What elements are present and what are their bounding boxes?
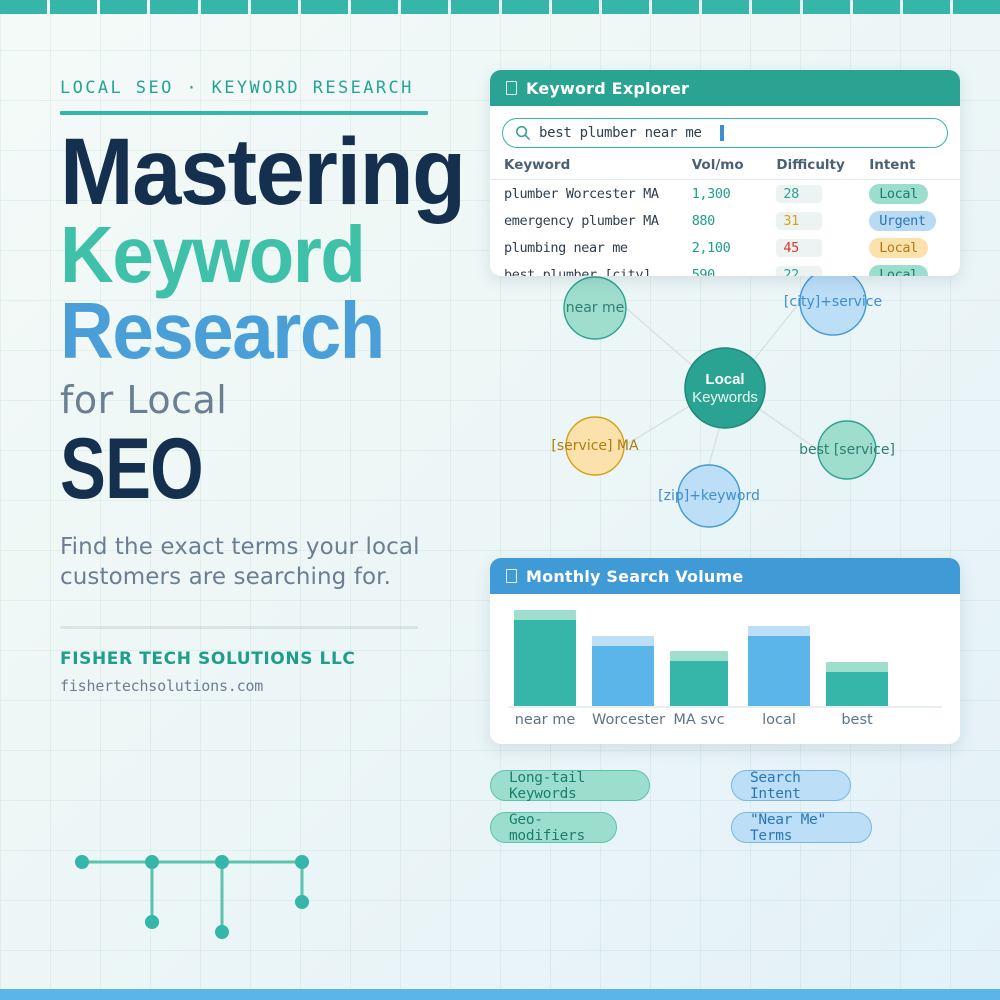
intent-badge: Local xyxy=(869,265,928,277)
network-node-center[interactable]: Local Keywords xyxy=(685,348,765,428)
keyword-explorer-card: Keyword Explorer best plumber near me Ke… xyxy=(490,70,960,276)
search-row: best plumber near me xyxy=(490,106,960,148)
title-line-keyword: Keyword xyxy=(60,218,432,292)
bar[interactable] xyxy=(592,636,654,706)
tag-pill[interactable]: Long-tail Keywords xyxy=(490,770,650,801)
cell-keyword: plumbing near me xyxy=(490,234,692,261)
column-header-keyword: Keyword xyxy=(490,157,692,180)
network-center-label-top: Local xyxy=(705,371,744,388)
network-node[interactable]: best [service] xyxy=(799,421,895,479)
network-node-label: near me xyxy=(566,300,625,316)
cell-keyword: plumber Worcester MA xyxy=(490,180,692,208)
keyword-explorer-header: Keyword Explorer xyxy=(490,70,960,106)
table-row[interactable]: best plumber [city]59022Local xyxy=(490,261,960,276)
tag-pill[interactable]: Geo-modifiers xyxy=(490,812,617,843)
keyword-explorer-title: Keyword Explorer xyxy=(526,79,689,98)
cell-difficulty: 31 xyxy=(776,207,869,234)
volume-card-title: Monthly Search Volume xyxy=(526,567,743,586)
cell-keyword: best plumber [city] xyxy=(490,261,692,276)
title-line-mastering: Mastering xyxy=(60,129,432,216)
bar-label: MA svc xyxy=(670,712,728,728)
chart-baseline xyxy=(508,706,942,708)
bar[interactable] xyxy=(670,651,728,706)
brand-website-url: fishertechsolutions.com xyxy=(60,677,460,695)
intent-badge: Local xyxy=(869,184,928,204)
difficulty-badge: 22 xyxy=(776,266,822,277)
tag-pill[interactable]: Search Intent xyxy=(731,770,851,801)
cell-volume: 1,300 xyxy=(692,180,777,208)
cell-intent: Local xyxy=(869,234,960,261)
network-center-label-bottom: Keywords xyxy=(692,389,758,406)
text-cursor xyxy=(720,125,724,141)
poster-canvas: LOCAL SEO · KEYWORD RESEARCH Mastering K… xyxy=(0,0,1000,1000)
magnifier-box-icon xyxy=(506,81,517,95)
tag-pill[interactable]: "Near Me" Terms xyxy=(731,812,872,843)
bar-label: Worcester xyxy=(592,712,654,728)
keyword-network-diagram: Local Keywords near me[city]+service[ser… xyxy=(490,262,960,558)
cell-volume: 2,100 xyxy=(692,234,777,261)
cell-intent: Urgent xyxy=(869,207,960,234)
cell-volume: 590 xyxy=(692,261,777,276)
bar-cap xyxy=(748,626,810,636)
bar-cap xyxy=(670,651,728,661)
bar-cap xyxy=(592,636,654,646)
brand-name: FISHER TECH SOLUTIONS LLC xyxy=(60,649,460,669)
bar[interactable] xyxy=(748,626,810,706)
intent-badge: Local xyxy=(869,238,928,258)
bar[interactable] xyxy=(826,662,888,706)
search-icon xyxy=(515,125,531,141)
search-input[interactable]: best plumber near me xyxy=(502,118,948,148)
bar-chart-box-icon xyxy=(506,569,517,583)
bar-label: local xyxy=(748,712,810,728)
page-title: Mastering Keyword Research xyxy=(60,129,460,368)
title-line-for-local: for Local xyxy=(60,380,460,422)
keyword-results-table: Keyword Vol/mo Difficulty Intent plumber… xyxy=(490,157,960,276)
difficulty-badge: 28 xyxy=(776,185,822,203)
network-node[interactable]: near me xyxy=(564,277,626,339)
monthly-search-volume-card: Monthly Search Volume near meWorcesterMA… xyxy=(490,558,960,744)
volume-card-header: Monthly Search Volume xyxy=(490,558,960,594)
hero-section: LOCAL SEO · KEYWORD RESEARCH Mastering K… xyxy=(60,78,460,695)
network-node-label: best [service] xyxy=(799,442,895,458)
cell-volume: 880 xyxy=(692,207,777,234)
search-input-value: best plumber near me xyxy=(539,125,702,141)
cell-difficulty: 45 xyxy=(776,234,869,261)
bar-cap xyxy=(514,610,576,620)
network-node[interactable]: [zip]+keyword xyxy=(658,465,760,527)
top-stripe-decoration xyxy=(0,0,1000,14)
table-header-row: Keyword Vol/mo Difficulty Intent xyxy=(490,157,960,180)
title-line-research: Research xyxy=(60,294,432,368)
column-header-volume: Vol/mo xyxy=(692,157,777,180)
brand-divider xyxy=(60,626,418,629)
bar-cap xyxy=(826,662,888,672)
table-row[interactable]: plumbing near me2,10045Local xyxy=(490,234,960,261)
bar[interactable] xyxy=(514,610,576,706)
bar-chart: near meWorcesterMA svclocalbest xyxy=(490,594,960,744)
column-header-intent: Intent xyxy=(869,157,960,180)
eyebrow-text: LOCAL SEO · KEYWORD RESEARCH xyxy=(60,78,460,98)
cell-keyword: emergency plumber MA xyxy=(490,207,692,234)
table-row[interactable]: plumber Worcester MA1,30028Local xyxy=(490,180,960,208)
cell-intent: Local xyxy=(869,180,960,208)
difficulty-badge: 45 xyxy=(776,239,822,257)
bar-label: best xyxy=(826,712,888,728)
network-node-label: [zip]+keyword xyxy=(658,488,760,504)
network-node[interactable]: [service] MA xyxy=(551,417,639,475)
node-tree-decoration xyxy=(60,840,340,960)
network-node[interactable]: [city]+service xyxy=(784,269,882,335)
cell-intent: Local xyxy=(869,261,960,276)
title-line-seo: SEO xyxy=(60,429,380,511)
table-row[interactable]: emergency plumber MA88031Urgent xyxy=(490,207,960,234)
intent-badge: Urgent xyxy=(869,211,935,231)
cell-difficulty: 28 xyxy=(776,180,869,208)
hero-subheadline: Find the exact terms your local customer… xyxy=(60,533,440,592)
column-header-difficulty: Difficulty xyxy=(776,157,869,180)
cell-difficulty: 22 xyxy=(776,261,869,276)
bar-label: near me xyxy=(514,712,576,728)
eyebrow-rule xyxy=(60,111,428,115)
difficulty-badge: 31 xyxy=(776,212,822,230)
network-node-label: [city]+service xyxy=(784,294,882,310)
bottom-accent-bar xyxy=(0,989,1000,1000)
network-node-label: [service] MA xyxy=(551,438,639,454)
